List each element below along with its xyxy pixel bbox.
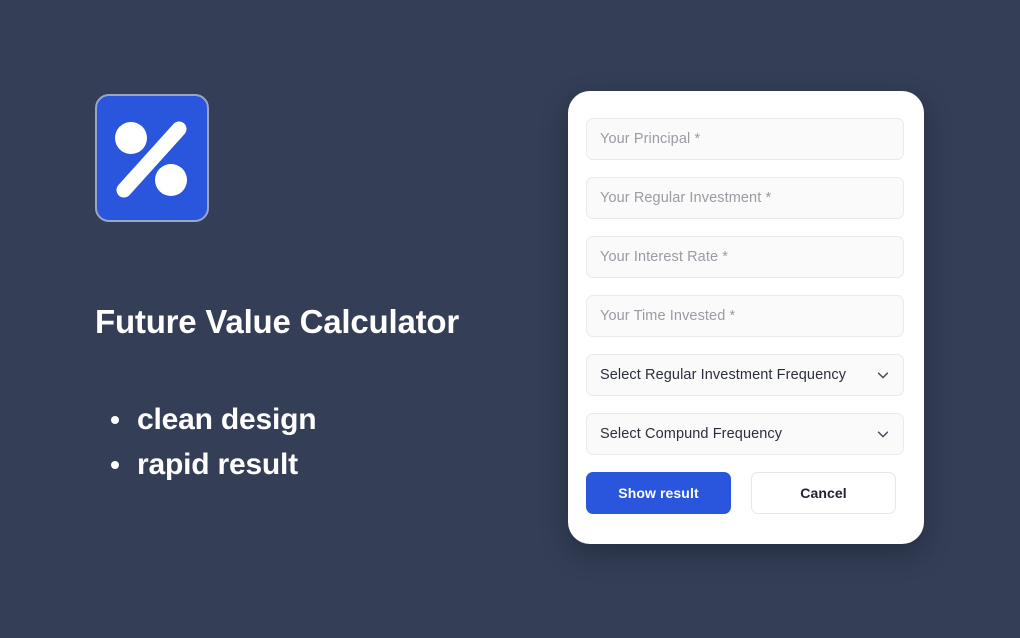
marketing-panel: Future Value Calculator clean design rap… [95,94,525,514]
compound-frequency-value: Select Compund Frequency [600,426,782,442]
bullet-icon [111,461,119,469]
chevron-down-icon [876,368,890,382]
interest-rate-placeholder: Your Interest Rate * [600,249,728,265]
chevron-down-icon [876,427,890,441]
list-item: rapid result [137,442,537,487]
percent-icon [95,94,209,222]
interest-rate-field[interactable]: Your Interest Rate * [586,236,904,278]
principal-field[interactable]: Your Principal * [586,118,904,160]
feature-label: clean design [137,403,316,436]
regular-investment-frequency-select[interactable]: Select Regular Investment Frequency [586,354,904,396]
feature-list: clean design rapid result [95,397,537,487]
principal-placeholder: Your Principal * [600,131,700,147]
form-actions: Show result Cancel [586,472,906,514]
regular-investment-frequency-value: Select Regular Investment Frequency [600,367,846,383]
show-result-button[interactable]: Show result [586,472,731,514]
cancel-button[interactable]: Cancel [751,472,896,514]
compound-frequency-select[interactable]: Select Compund Frequency [586,413,904,455]
bullet-icon [111,416,119,424]
app-root: Future Value Calculator clean design rap… [0,0,1020,638]
list-item: clean design [137,397,537,442]
time-invested-field[interactable]: Your Time Invested * [586,295,904,337]
calculator-form-card: Your Principal * Your Regular Investment… [568,91,924,544]
time-invested-placeholder: Your Time Invested * [600,308,735,324]
feature-label: rapid result [137,448,298,481]
page-title: Future Value Calculator [95,299,515,344]
regular-investment-placeholder: Your Regular Investment * [600,190,771,206]
regular-investment-field[interactable]: Your Regular Investment * [586,177,904,219]
